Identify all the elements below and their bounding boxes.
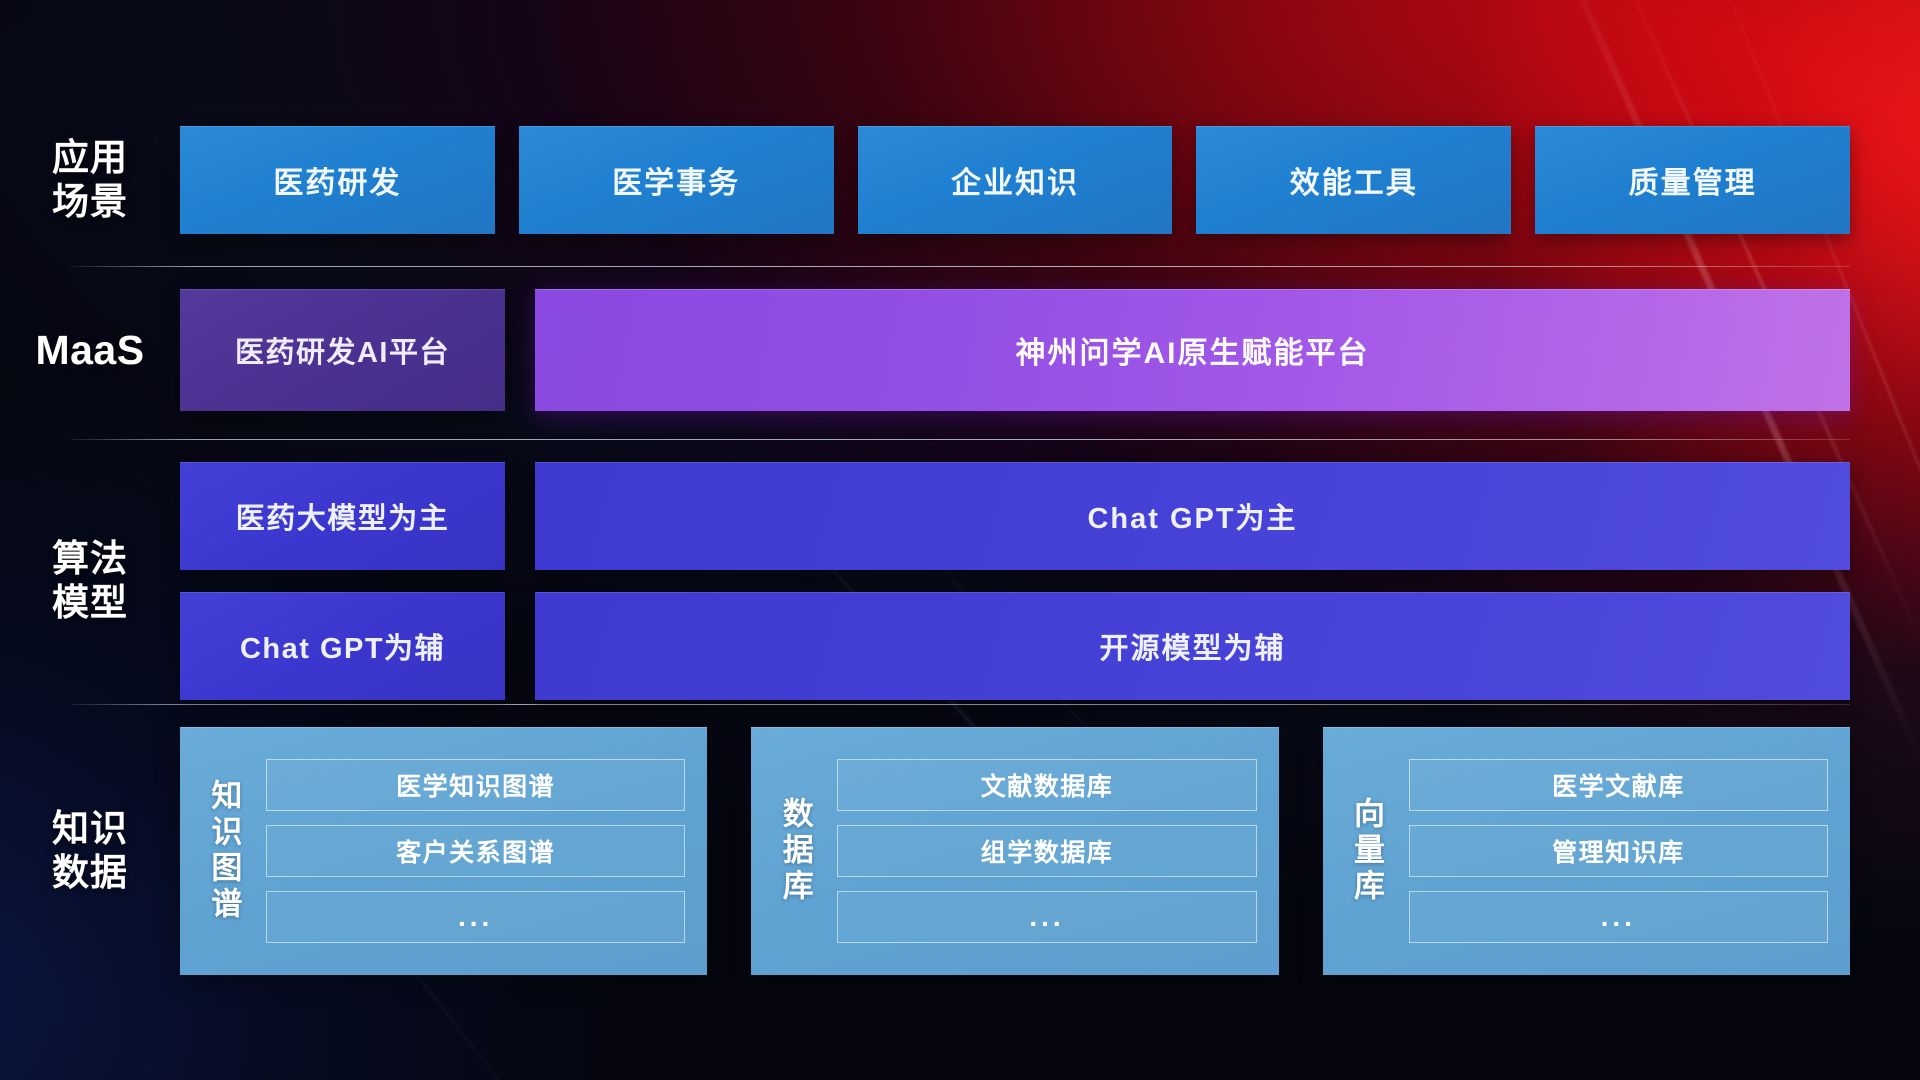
maas-enablement-platform-box[interactable]: 神州问学AI原生赋能平台 [535, 289, 1850, 411]
tier-maas: MaaS 医药研发AI平台 神州问学AI原生赋能平台 [0, 289, 1920, 411]
algorithm-label: 开源模型为辅 [1099, 625, 1285, 667]
knowledge-item-list: 文献数据库 组学数据库 ... [837, 741, 1256, 961]
algorithm-label: 医药大模型为主 [236, 495, 450, 537]
knowledge-item-more[interactable]: ... [837, 891, 1256, 943]
knowledge-panel-vertical-label: 数据库 [767, 741, 821, 961]
tier-divider-2 [70, 439, 1850, 440]
knowledge-panel-vertical-label: 向量库 [1339, 741, 1393, 961]
architecture-diagram: 应用 场景 医药研发 医学事务 企业知识 效能工具 质量管理 MaaS 医药研发… [0, 0, 1920, 1080]
knowledge-panel-vector[interactable]: 向量库 医学文献库 管理知识库 ... [1323, 727, 1850, 975]
scenario-label: 效能工具 [1290, 158, 1418, 202]
knowledge-item-list: 医学文献库 管理知识库 ... [1409, 741, 1828, 961]
knowledge-panel-graph[interactable]: 知识图谱 医学知识图谱 客户关系图谱 ... [180, 727, 707, 975]
tier-label-maas: MaaS [0, 326, 180, 374]
knowledge-item[interactable]: 组学数据库 [837, 825, 1256, 877]
scenario-label: 医学事务 [612, 158, 740, 202]
knowledge-panel-vertical-label: 知识图谱 [196, 741, 250, 961]
algorithm-box-wide[interactable]: Chat GPT为主 [535, 462, 1850, 570]
knowledge-item-label: 医学文献库 [1552, 767, 1685, 803]
algorithm-label: Chat GPT为辅 [240, 625, 445, 667]
algorithm-row-primary: 医药大模型为主 Chat GPT为主 [180, 462, 1850, 570]
knowledge-item[interactable]: 文献数据库 [837, 759, 1256, 811]
tier-divider-3 [70, 704, 1850, 705]
knowledge-item-more[interactable]: ... [1409, 891, 1828, 943]
knowledge-item-label: 文献数据库 [981, 767, 1114, 803]
knowledge-item-label: ... [1029, 901, 1064, 933]
scenario-box[interactable]: 医学事务 [519, 126, 834, 234]
tier-algorithm-models: 算法 模型 医药大模型为主 Chat GPT为主 Chat GPT为辅 开源模型… [0, 462, 1920, 700]
knowledge-item-label: ... [1601, 901, 1636, 933]
scenario-label: 企业知识 [951, 158, 1079, 202]
knowledge-item-label: 管理知识库 [1552, 833, 1685, 869]
knowledge-item-label: ... [458, 901, 493, 933]
maas-box-group: 医药研发AI平台 神州问学AI原生赋能平台 [180, 289, 1920, 411]
knowledge-item-label: 医学知识图谱 [396, 767, 555, 803]
tier-application-scenarios: 应用 场景 医药研发 医学事务 企业知识 效能工具 质量管理 [0, 126, 1920, 234]
tier-label-knowledge-data: 知识 数据 [0, 807, 180, 894]
scenario-box-group: 医药研发 医学事务 企业知识 效能工具 质量管理 [180, 126, 1920, 234]
knowledge-item-label: 组学数据库 [981, 833, 1114, 869]
algorithm-box-narrow[interactable]: 医药大模型为主 [180, 462, 505, 570]
maas-enablement-platform-label: 神州问学AI原生赋能平台 [1016, 328, 1370, 372]
knowledge-item[interactable]: 医学知识图谱 [266, 759, 685, 811]
tier-label-application-scenarios: 应用 场景 [0, 136, 180, 223]
scenario-label: 医药研发 [273, 158, 401, 202]
scenario-box[interactable]: 企业知识 [858, 126, 1173, 234]
scenario-label: 质量管理 [1629, 158, 1757, 202]
knowledge-panel-group: 知识图谱 医学知识图谱 客户关系图谱 ... 数据库 文献数据库 组学数据库 .… [180, 727, 1920, 975]
knowledge-item-more[interactable]: ... [266, 891, 685, 943]
knowledge-item[interactable]: 客户关系图谱 [266, 825, 685, 877]
tier-label-algorithm-models: 算法 模型 [0, 537, 180, 624]
maas-platform-label: 医药研发AI平台 [235, 329, 450, 371]
algorithm-box-narrow[interactable]: Chat GPT为辅 [180, 592, 505, 700]
maas-platform-box[interactable]: 医药研发AI平台 [180, 289, 505, 411]
scenario-box[interactable]: 医药研发 [180, 126, 495, 234]
knowledge-panel-database[interactable]: 数据库 文献数据库 组学数据库 ... [751, 727, 1278, 975]
knowledge-item[interactable]: 管理知识库 [1409, 825, 1828, 877]
knowledge-item[interactable]: 医学文献库 [1409, 759, 1828, 811]
tier-knowledge-data: 知识 数据 知识图谱 医学知识图谱 客户关系图谱 ... 数据库 文献数据库 组… [0, 727, 1920, 975]
algorithm-box-group: 医药大模型为主 Chat GPT为主 Chat GPT为辅 开源模型为辅 [180, 462, 1920, 700]
knowledge-item-list: 医学知识图谱 客户关系图谱 ... [266, 741, 685, 961]
tier-divider-1 [70, 266, 1850, 267]
scenario-box[interactable]: 效能工具 [1196, 126, 1511, 234]
algorithm-label: Chat GPT为主 [1087, 495, 1297, 537]
algorithm-box-wide[interactable]: 开源模型为辅 [535, 592, 1850, 700]
knowledge-item-label: 客户关系图谱 [396, 833, 555, 869]
algorithm-row-secondary: Chat GPT为辅 开源模型为辅 [180, 592, 1850, 700]
scenario-box[interactable]: 质量管理 [1535, 126, 1850, 234]
